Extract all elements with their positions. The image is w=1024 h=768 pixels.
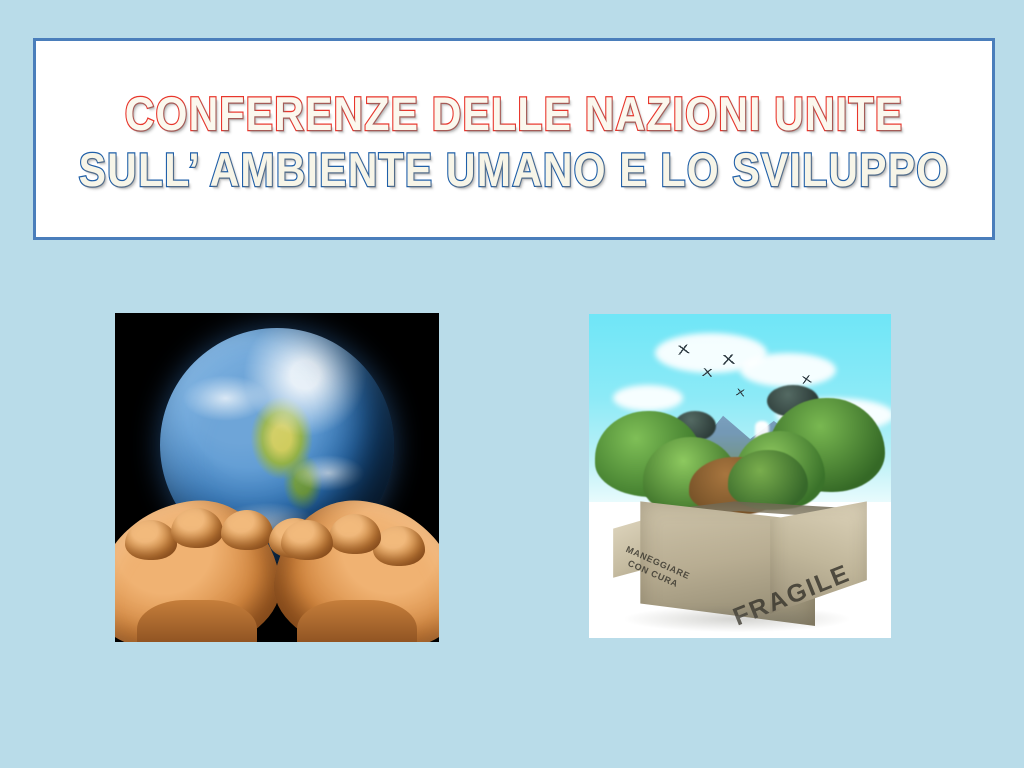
title-stack: CONFERENZE DELLE NAZIONI UNITE SULL’ AMB… <box>36 41 992 237</box>
cardboard-box: MANEGGIARE CON CURA FRAGILE <box>589 437 891 638</box>
image-fragile-nature-box[interactable]: MANEGGIARE CON CURA FRAGILE <box>589 314 891 638</box>
bird-icon <box>719 354 737 365</box>
finger <box>125 520 177 560</box>
bird-icon <box>700 368 715 377</box>
finger <box>329 514 381 554</box>
title-line-primary: CONFERENZE DELLE NAZIONI UNITE <box>125 89 904 138</box>
slide-canvas: CONFERENZE DELLE NAZIONI UNITE SULL’ AMB… <box>0 0 1024 768</box>
hands-group <box>115 484 439 642</box>
image-hands-holding-earth[interactable] <box>115 313 439 642</box>
right-wrist <box>297 600 417 642</box>
left-wrist <box>137 600 257 642</box>
finger <box>281 520 333 560</box>
box-ground-shadow <box>625 606 848 632</box>
title-text-box[interactable]: CONFERENZE DELLE NAZIONI UNITE SULL’ AMB… <box>33 38 995 240</box>
bird-icon <box>734 388 747 397</box>
finger <box>171 508 223 548</box>
earth-illustration <box>115 313 439 642</box>
title-line-secondary: SULL’ AMBIENTE UMANO E LO SVILUPPO <box>79 145 950 194</box>
finger <box>373 526 425 566</box>
fragile-box-illustration: MANEGGIARE CON CURA FRAGILE <box>589 314 891 638</box>
finger <box>221 510 273 550</box>
cloud-icon <box>740 353 836 387</box>
